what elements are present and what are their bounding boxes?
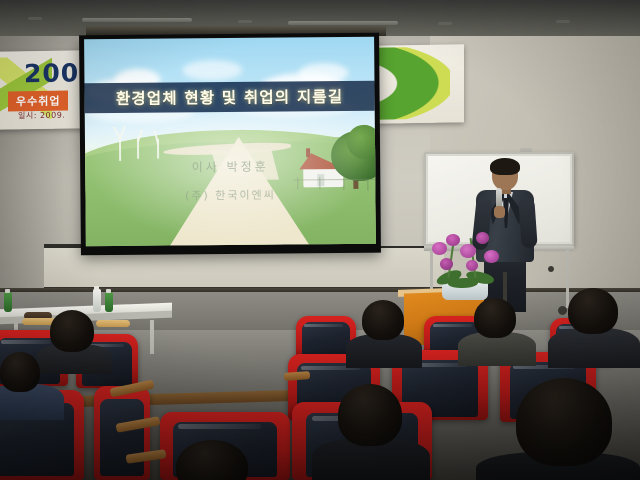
- ceiling-light-fixture: [28, 17, 42, 20]
- bottle-cap: [94, 286, 99, 290]
- projection-screen: 환경업체 현황 및 취업의 지름길 이사 박정훈 (주) 한국이엔씨: [79, 33, 381, 256]
- seat: [94, 386, 150, 480]
- orchid-arrangement: [426, 228, 504, 300]
- attendee-hair: [516, 378, 612, 466]
- ceiling-light-fixture: [288, 21, 398, 25]
- ceiling-light-fixture: [438, 22, 452, 25]
- attendee-head: [338, 384, 402, 446]
- seat-highlight: [433, 324, 473, 327]
- attendee-head: [568, 288, 618, 334]
- bottle-cap: [5, 289, 10, 293]
- tree-crown-highlight: [347, 125, 376, 159]
- attendee-hair: [50, 310, 94, 352]
- wind-turbine-pole: [119, 135, 121, 161]
- seat-highlight: [178, 424, 261, 429]
- attendee-hair: [338, 384, 402, 446]
- seat-highlight: [1, 340, 51, 344]
- orchid-bloom: [446, 234, 460, 246]
- presenter-arm-right: [518, 198, 537, 249]
- attendee-head: [0, 352, 40, 392]
- attendee-head: [50, 310, 94, 352]
- ceiling-light-fixture: [238, 20, 252, 23]
- ceiling-light-fixture: [556, 20, 570, 23]
- table-leg: [150, 320, 154, 354]
- slide-title-text: 환경업체 현황 및 취업의 지름길: [116, 85, 344, 109]
- attendee-hair: [176, 440, 248, 480]
- orchid-bloom: [432, 242, 447, 255]
- presenter-hand: [494, 206, 505, 218]
- orchid-bloom: [440, 258, 453, 270]
- attendee-shoulders: [548, 328, 640, 368]
- slide-presenter-name: 이사 박정훈: [85, 157, 375, 177]
- orchid-bloom: [476, 232, 489, 244]
- presenter-hair: [490, 158, 520, 175]
- projected-slide: 환경업체 현황 및 취업의 지름길 이사 박정훈 (주) 한국이엔씨: [84, 37, 376, 247]
- green-bottle: [4, 292, 12, 312]
- cloud: [182, 60, 242, 81]
- attendee-hair: [474, 298, 516, 338]
- slide-subtitle-block: 이사 박정훈 (주) 한국이엔씨: [85, 157, 375, 205]
- whiteboard-caster: [548, 266, 554, 272]
- wind-turbine-blade: [112, 126, 120, 138]
- attendee-hair: [0, 352, 40, 392]
- seat-highlight: [304, 324, 342, 327]
- slide-company-name: (주) 한국이엔씨: [85, 186, 375, 205]
- attendee-hair: [362, 300, 404, 340]
- banner-year-text: 200: [24, 58, 79, 88]
- attendee-hair: [568, 288, 618, 334]
- attendee-head: [516, 378, 612, 466]
- attendee-head: [176, 440, 248, 480]
- lecture-hall-photo: 200 수회 우수취업 일시: 2009. 강전략토론 학교 환경공학과: [0, 0, 640, 480]
- attendee-head: [474, 298, 516, 338]
- orchid-bloom: [484, 250, 499, 263]
- banner-date-text: 일시: 2009.: [18, 110, 65, 122]
- ceiling-light-fixture: [82, 18, 192, 22]
- seat-cushion: [100, 399, 145, 476]
- green-bottle: [105, 292, 113, 312]
- slide-title-band: 환경업체 현황 및 취업의 지름길: [84, 81, 374, 114]
- bottle-cap: [106, 289, 111, 293]
- white-bottle: [93, 289, 101, 312]
- house-chimney: [306, 148, 310, 157]
- banner-orange-label: 우수취업: [8, 91, 68, 112]
- orchid-bloom: [460, 244, 476, 258]
- snack-plate: [96, 320, 130, 327]
- whiteboard-caster: [558, 306, 567, 315]
- orchid-bloom: [466, 260, 478, 271]
- attendee-head: [362, 300, 404, 340]
